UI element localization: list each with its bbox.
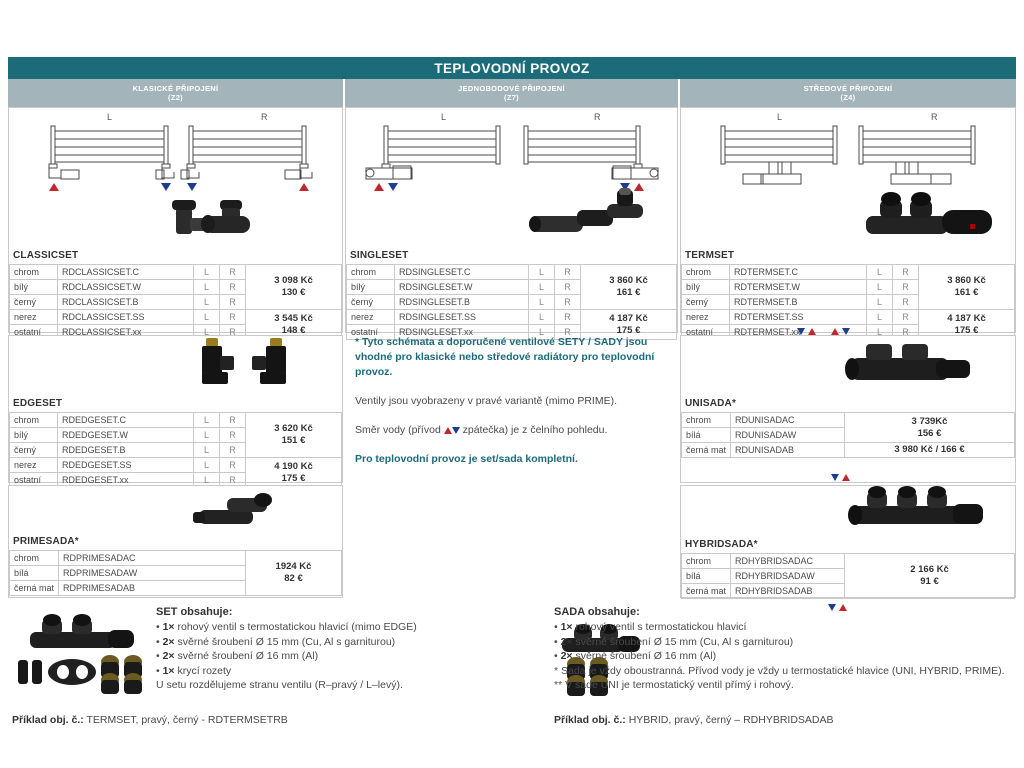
price-eur: 161 € (923, 287, 1010, 299)
note-line-3-prefix: Směr vody (přívod (355, 424, 444, 436)
variant-left: L (867, 265, 893, 280)
price-eur: 151 € (250, 435, 337, 447)
variant-right: R (220, 295, 246, 310)
variant-name: černý (682, 295, 730, 310)
variant-code: RDTERMSET.SS (730, 310, 867, 325)
variant-right: R (893, 295, 919, 310)
item-text: rohový ventil s termostatickou hlavicí (… (175, 621, 417, 633)
variant-code: RDEDGESET.W (58, 428, 194, 443)
classicset-table: chrom RDCLASSICSET.C L R 3 098 Kč 130 € … (9, 264, 342, 340)
set-title: SET obsahuje: (156, 606, 546, 618)
edgeset-cell: EDGESET chrom RDEDGESET.C L R 3 620 Kč 1… (8, 335, 343, 483)
note-line-4: Pro teplovodní provoz je set/sada komple… (355, 452, 670, 467)
price-eur: 130 € (250, 287, 337, 299)
edgeset-table: chrom RDEDGESET.C L R 3 620 Kč 151 € bíl… (9, 412, 342, 488)
column-header-title: KLASICKÉ PŘIPOJENÍ (133, 84, 219, 93)
sada-example: Příklad obj. č.: HYBRID, pravý, černý – … (554, 714, 834, 726)
supply-arrow-icon (49, 183, 59, 191)
variant-name: bílá (682, 428, 731, 443)
termset-cell: L R (680, 107, 1016, 333)
variant-code: RDUNISADAC (731, 413, 845, 428)
classicset-product-photo (164, 190, 299, 245)
variant-name: nerez (347, 310, 395, 325)
variant-left: L (867, 295, 893, 310)
return-arrow-icon (842, 328, 850, 335)
price-cell: 3 739Kč 156 € (845, 413, 1015, 443)
price-czk: 4 190 Kč (250, 461, 337, 473)
price-cell-a: 3 620 Kč 151 € (246, 413, 342, 458)
variant-code: RDSINGLESET.W (395, 280, 529, 295)
price-czk: 3 620 Kč (250, 423, 337, 435)
variant-left: L (194, 413, 220, 428)
variant-code: RDCLASSICSET.C (58, 265, 194, 280)
variant-right: R (893, 310, 919, 325)
edgeset-photo-area (9, 336, 342, 396)
variant-left: L (867, 310, 893, 325)
variant-name: chrom (347, 265, 395, 280)
table-row[interactable]: chrom RDHYBRIDSADAC 2 166 Kč 91 € (682, 554, 1015, 569)
variant-left: L (194, 428, 220, 443)
diagram-label-left: L (777, 112, 782, 122)
variant-right: R (893, 265, 919, 280)
sada-note-1: * Sada je vždy oboustranná. Přívod vody … (554, 664, 1016, 679)
variant-code: RDCLASSICSET.SS (58, 310, 194, 325)
variant-left: L (194, 265, 220, 280)
table-row[interactable]: černá mat RDUNISADAB 3 980 Kč / 166 € (682, 443, 1015, 458)
table-row[interactable]: chrom RDSINGLESET.C L R 3 860 Kč 161 € (347, 265, 677, 280)
singleset-diagram: L R (346, 108, 677, 248)
supply-arrow-icon (831, 328, 839, 335)
diagram-label-right: R (261, 112, 268, 122)
price-eur: 175 € (250, 473, 337, 485)
variant-name: chrom (682, 413, 731, 428)
item-qty: 2× (163, 650, 175, 662)
price-cell-a: 3 860 Kč 161 € (581, 265, 677, 310)
variant-name: chrom (682, 554, 731, 569)
classicset-cell: L R (8, 107, 343, 333)
variant-name: bílý (347, 280, 395, 295)
variant-code: RDHYBRIDSADAC (731, 554, 845, 569)
diagram-label-left: L (441, 112, 446, 122)
variant-left: L (194, 458, 220, 473)
variant-right: R (220, 310, 246, 325)
price-cell-black: 3 980 Kč / 166 € (845, 443, 1015, 458)
variant-code: RDTERMSET.W (730, 280, 867, 295)
variant-code: RDSINGLESET.C (395, 265, 529, 280)
singleset-title: SINGLESET (346, 248, 677, 264)
hybridsada-cell: HYBRIDSADA* chrom RDHYBRIDSADAC 2 166 Kč… (680, 485, 1016, 598)
item-text: svěrné šroubení Ø 15 mm (Cu, Al s garnit… (573, 636, 794, 648)
footer-sada-column: SADA obsahuje: • 1× rohový ventil s term… (554, 604, 1016, 724)
variant-code: RDTERMSET.C (730, 265, 867, 280)
unisada-table: chrom RDUNISADAC 3 739Kč 156 € bílá RDUN… (681, 412, 1015, 458)
variant-code: RDSINGLESET.B (395, 295, 529, 310)
column-headers: KLASICKÉ PŘIPOJENÍ (Z2) JEDNOBODOVÉ PŘIP… (8, 79, 1016, 107)
primesada-title: PRIMESADA* (9, 534, 342, 550)
sada-example-text: HYBRID, pravý, černý – RDHYBRIDSADAB (626, 714, 834, 726)
column-header-classic: KLASICKÉ PŘIPOJENÍ (Z2) (8, 79, 345, 107)
set-example: Příklad obj. č.: TERMSET, pravý, černý -… (12, 714, 288, 726)
list-item: • 1× rohový ventil s termostatickou hlav… (156, 620, 546, 635)
sada-title: SADA obsahuje: (554, 606, 1016, 618)
variant-left: L (194, 295, 220, 310)
variant-name: chrom (10, 413, 58, 428)
variant-name: bílá (682, 569, 731, 584)
variant-left: L (194, 443, 220, 458)
variant-name: bílá (10, 566, 59, 581)
sada-item-list: • 1× rohový ventil s termostatickou hlav… (554, 620, 1016, 664)
page-root: { "banner": { "title": "TEPLOVODNÍ PROVO… (0, 0, 1024, 768)
price-czk: 4 187 Kč (585, 313, 672, 325)
sada-example-label: Příklad obj. č.: (554, 714, 626, 726)
set-note: U setu rozdělujeme stranu ventilu (R–pra… (156, 678, 546, 693)
variant-right: R (893, 280, 919, 295)
unisada-photo-area (681, 336, 1015, 396)
price-cell: 1924 Kč 82 € (246, 551, 342, 596)
supply-arrow-icon (299, 183, 309, 191)
variant-right: R (220, 280, 246, 295)
info-note-block: * Tyto schémata a doporučené ventilové S… (355, 335, 670, 481)
variant-name: bílý (682, 280, 730, 295)
list-item: • 2× svěrné šroubení Ø 15 mm (Cu, Al s g… (156, 635, 546, 650)
variant-left: L (529, 310, 555, 325)
variant-name: bílý (10, 428, 58, 443)
variant-name: černá mat (10, 581, 59, 596)
list-item: • 2× svěrné šroubení Ø 16 mm (Al) (156, 649, 546, 664)
variant-name: nerez (10, 458, 58, 473)
hybridsada-table: chrom RDHYBRIDSADAC 2 166 Kč 91 € bílá R… (681, 553, 1015, 599)
variant-right: R (220, 458, 246, 473)
price-czk: 3 860 Kč (923, 275, 1010, 287)
item-text: krycí rozety (175, 665, 232, 677)
variant-name: černý (347, 295, 395, 310)
price-cell-a: 3 098 Kč 130 € (246, 265, 342, 310)
set-item-list: • 1× rohový ventil s termostatickou hlav… (156, 620, 546, 678)
item-qty: 1× (163, 621, 175, 633)
edgeset-title: EDGESET (9, 396, 342, 412)
variant-right: R (555, 280, 581, 295)
variant-left: L (529, 280, 555, 295)
variant-code: RDSINGLESET.SS (395, 310, 529, 325)
variant-left: L (867, 280, 893, 295)
variant-name: nerez (682, 310, 730, 325)
variant-code: RDCLASSICSET.W (58, 280, 194, 295)
item-qty: 2× (561, 650, 573, 662)
variant-code: RDHYBRIDSADAW (731, 569, 845, 584)
note-line-2: Ventily jsou vyobrazeny v pravé variantě… (355, 394, 670, 409)
variant-right: R (220, 413, 246, 428)
table-row[interactable]: nerez RDSINGLESET.SS L R 4 187 Kč 175 € (347, 310, 677, 325)
variant-code: RDEDGESET.B (58, 443, 194, 458)
variant-left: L (194, 280, 220, 295)
table-row[interactable]: chrom RDTERMSET.C L R 3 860 Kč 161 € (682, 265, 1015, 280)
main-banner: TEPLOVODNÍ PROVOZ (8, 57, 1016, 79)
unisada-title: UNISADA* (681, 396, 1015, 412)
variant-right: R (220, 428, 246, 443)
table-row[interactable]: nerez RDEDGESET.SS L R 4 190 Kč 175 € (10, 458, 342, 473)
price-czk: 2 166 Kč (849, 564, 1010, 576)
singleset-cell: L R (345, 107, 678, 333)
variant-right: R (220, 443, 246, 458)
price-cell: 2 166 Kč 91 € (845, 554, 1015, 599)
item-text: rohový ventil s termostatickou hlavicí (573, 621, 747, 633)
variant-right: R (555, 265, 581, 280)
hybridsada-photo-area (681, 486, 1015, 537)
price-eur: 82 € (250, 573, 337, 585)
variant-name: černá mat (682, 443, 731, 458)
singleset-table: chrom RDSINGLESET.C L R 3 860 Kč 161 € b… (346, 264, 677, 340)
item-text: svěrné šroubení Ø 16 mm (Al) (573, 650, 717, 662)
price-eur: 161 € (585, 287, 672, 299)
list-item: • 1× krycí rozety (156, 664, 546, 679)
variant-code: RDUNISADAW (731, 428, 845, 443)
note-line-3: Směr vody (přívod zpátečka) je z čelního… (355, 423, 670, 438)
variant-left: L (194, 310, 220, 325)
unisada-product-photo (836, 338, 996, 396)
table-row[interactable]: nerez RDCLASSICSET.SS L R 3 545 Kč 148 € (10, 310, 342, 325)
price-czk: 1924 Kč (250, 561, 337, 573)
item-text: svěrné šroubení Ø 15 mm (Cu, Al s garnit… (175, 636, 396, 648)
variant-code: RDUNISADAB (731, 443, 845, 458)
set-contents-text: SET obsahuje: • 1× rohový ventil s termo… (156, 606, 546, 693)
price-czk: 3 098 Kč (250, 275, 337, 287)
edgeset-product-photo (164, 334, 314, 396)
banner-title: TEPLOVODNÍ PROVOZ (434, 61, 589, 76)
return-arrow-icon (452, 427, 460, 434)
sada-contents-text: SADA obsahuje: • 1× rohový ventil s term… (554, 606, 1016, 693)
singleset-product-photo (521, 186, 671, 244)
hybridsada-product-photo (833, 480, 1003, 538)
footer-set-column: SET obsahuje: • 1× rohový ventil s termo… (8, 604, 554, 724)
termset-product-photo (846, 188, 1006, 246)
list-item: • 1× rohový ventil s termostatickou hlav… (554, 620, 1016, 635)
footer: SET obsahuje: • 1× rohový ventil s termo… (8, 604, 1016, 724)
column-classic: L R (8, 107, 345, 600)
variant-code: RDHYBRIDSADAB (731, 584, 845, 599)
variant-code: RDTERMSET.B (730, 295, 867, 310)
variant-name: černý (10, 295, 58, 310)
item-qty: 1× (561, 621, 573, 633)
price-cell-b: 4 190 Kč 175 € (246, 458, 342, 488)
variant-name: chrom (10, 265, 58, 280)
table-row[interactable]: chrom RDUNISADAC 3 739Kč 156 € (682, 413, 1015, 428)
variant-code: RDPRIMESADAB (59, 581, 246, 596)
supply-arrow-icon (374, 183, 384, 191)
table-row[interactable]: chrom RDCLASSICSET.C L R 3 098 Kč 130 € (10, 265, 342, 280)
note-line-1: * Tyto schémata a doporučené ventilové S… (355, 335, 670, 380)
column-header-code: (Z7) (504, 93, 519, 102)
item-qty: 2× (163, 636, 175, 648)
variant-left: L (529, 265, 555, 280)
table-row[interactable]: nerez RDTERMSET.SS L R 4 187 Kč 175 € (682, 310, 1015, 325)
termset-title: TERMSET (681, 248, 1015, 264)
price-eur: 91 € (849, 576, 1010, 588)
set-contents-photo (12, 610, 152, 702)
variant-name: černý (10, 443, 58, 458)
supply-arrow-icon (808, 328, 816, 335)
list-item: • 2× svěrné šroubení Ø 16 mm (Al) (554, 649, 1016, 664)
main-grid: L R (8, 107, 1016, 600)
termset-diagram: L R (681, 108, 1015, 248)
variant-right: R (555, 310, 581, 325)
return-arrow-icon (388, 183, 398, 191)
variant-name: nerez (10, 310, 58, 325)
diagram-label-right: R (594, 112, 601, 122)
classicset-diagram: L R (9, 108, 342, 248)
variant-name: chrom (682, 265, 730, 280)
variant-code: RDCLASSICSET.B (58, 295, 194, 310)
variant-name: bílý (10, 280, 58, 295)
item-qty: 2× (561, 636, 573, 648)
hybridsada-title: HYBRIDSADA* (681, 537, 1015, 553)
variant-name: chrom (10, 551, 59, 566)
price-czk: 3 739Kč (849, 416, 1010, 428)
price-czk: 3 860 Kč (585, 275, 672, 287)
return-arrow-icon (797, 328, 805, 335)
column-header-code: (Z4) (841, 93, 856, 102)
unisada-cell: UNISADA* chrom RDUNISADAC 3 739Kč 156 € … (680, 335, 1016, 483)
price-czk: 3 545 Kč (250, 313, 337, 325)
table-row[interactable]: chrom RDPRIMESADAC 1924 Kč 82 € (10, 551, 342, 566)
diagram-label-left: L (107, 112, 112, 122)
table-row[interactable]: chrom RDEDGESET.C L R 3 620 Kč 151 € (10, 413, 342, 428)
column-header-code: (Z2) (168, 93, 183, 102)
column-center: L R (680, 107, 1016, 600)
price-cell-a: 3 860 Kč 161 € (919, 265, 1015, 310)
variant-name: černá mat (682, 584, 731, 599)
column-header-title: JEDNOBODOVÉ PŘIPOJENÍ (458, 84, 565, 93)
variant-right: R (555, 295, 581, 310)
item-qty: 1× (163, 665, 175, 677)
primesada-cell: PRIMESADA* chrom RDPRIMESADAC 1924 Kč 82… (8, 485, 343, 598)
item-text: svěrné šroubení Ø 16 mm (Al) (175, 650, 319, 662)
set-example-text: TERMSET, pravý, černý - RDTERMSETRB (84, 714, 288, 726)
set-example-label: Příklad obj. č.: (12, 714, 84, 726)
supply-arrow-icon (444, 427, 452, 434)
variant-code: RDPRIMESADAW (59, 566, 246, 581)
price-eur: 156 € (849, 428, 1010, 440)
column-header-single: JEDNOBODOVÉ PŘIPOJENÍ (Z7) (345, 79, 680, 107)
column-header-title: STŘEDOVÉ PŘIPOJENÍ (804, 84, 893, 93)
variant-left: L (529, 295, 555, 310)
primesada-product-photo (179, 486, 319, 536)
sada-note-2: ** V sadě UNI je termostatický ventil př… (554, 678, 1016, 693)
column-single: L R (345, 107, 680, 600)
variant-right: R (220, 265, 246, 280)
price-czk: 4 187 Kč (923, 313, 1010, 325)
primesada-table: chrom RDPRIMESADAC 1924 Kč 82 € bílá RDP… (9, 550, 342, 596)
variant-code: RDPRIMESADAC (59, 551, 246, 566)
column-header-center: STŘEDOVÉ PŘIPOJENÍ (Z4) (680, 79, 1016, 107)
diagram-label-right: R (931, 112, 938, 122)
primesada-photo-area (9, 486, 342, 534)
note-line-3-suffix: zpátečka) je z čelního pohledu. (460, 424, 608, 436)
variant-code: RDEDGESET.C (58, 413, 194, 428)
classicset-title: CLASSICSET (9, 248, 342, 264)
list-item: • 2× svěrné šroubení Ø 15 mm (Cu, Al s g… (554, 635, 1016, 650)
variant-code: RDEDGESET.SS (58, 458, 194, 473)
